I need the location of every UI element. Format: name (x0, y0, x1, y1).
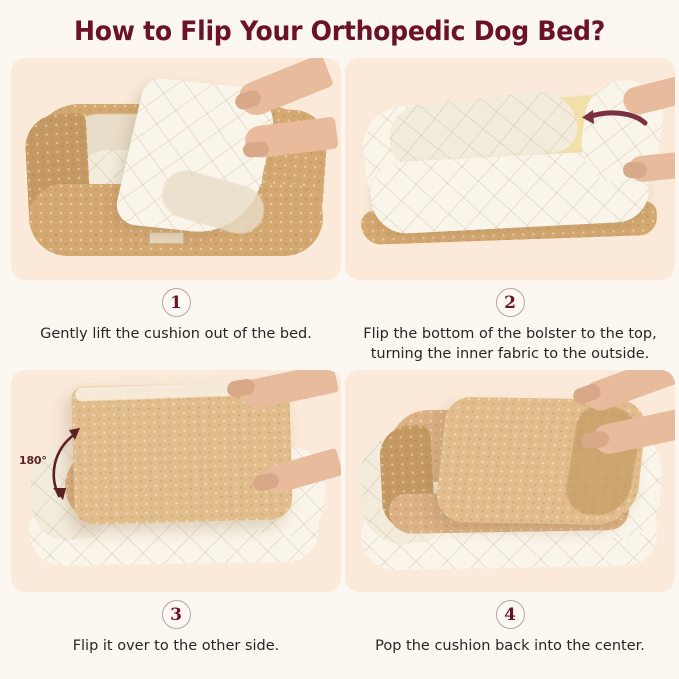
step-2-photo (345, 58, 675, 280)
step-caption-1: Gently lift the cushion out of the bed. (11, 324, 341, 344)
step-caption-3: Flip it over to the other side. (11, 636, 341, 656)
scene-place-cushion (345, 370, 675, 592)
step-card-4: 4 Pop the cushion back into the center. (345, 370, 675, 656)
step-3-photo: 180° (11, 370, 341, 592)
infographic-page: How to Flip Your Orthopedic Dog Bed? (0, 0, 679, 679)
scene-flip-bolster (345, 58, 675, 280)
step-card-3: 180° 3 Flip it over to the other side. (11, 370, 341, 656)
step-badge-1: 1 (162, 288, 191, 317)
step-badge-3: 3 (162, 600, 191, 629)
rotation-arrow-180 (47, 422, 91, 508)
step-card-1: 1 Gently lift the cushion out of the bed… (11, 58, 341, 344)
step-badge-4: 4 (496, 600, 525, 629)
step-1-photo (11, 58, 341, 280)
scene-lift-cushion (11, 58, 341, 280)
steps-grid: 1 Gently lift the cushion out of the bed… (0, 58, 679, 668)
brand-tag (149, 232, 184, 244)
step-badge-2: 2 (496, 288, 525, 317)
step-caption-4: Pop the cushion back into the center. (345, 636, 675, 656)
scene-flip-over: 180° (11, 370, 341, 592)
finger-lower (243, 141, 270, 158)
step-caption-2: Flip the bottom of the bolster to the to… (345, 324, 675, 364)
rotation-annotation: 180° (19, 454, 47, 467)
page-title: How to Flip Your Orthopedic Dog Bed? (24, 16, 655, 47)
step-card-2: 2 Flip the bottom of the bolster to the … (345, 58, 675, 364)
fingers-lower (623, 162, 647, 178)
step-4-photo (345, 370, 675, 592)
